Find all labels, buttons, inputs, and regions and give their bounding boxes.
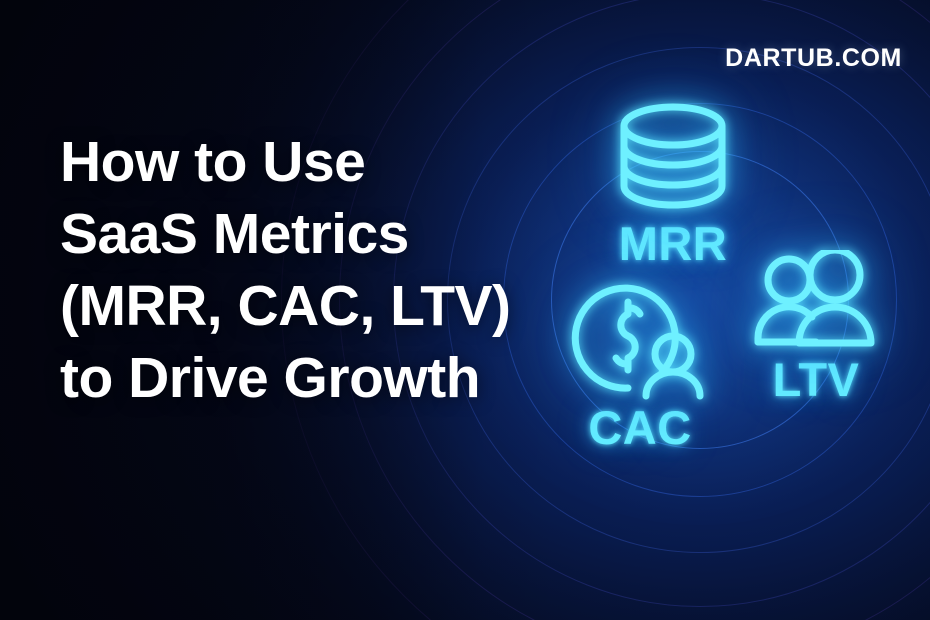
database-stack-icon <box>612 100 734 212</box>
metric-mrr: MRR <box>612 100 734 267</box>
brand-logo: DARTUB.COM <box>725 44 902 73</box>
headline-line-1: How to Use <box>60 126 511 198</box>
metric-ltv-label: LTV <box>773 356 860 403</box>
metric-ltv: LTV <box>752 250 880 403</box>
metric-cac: CAC <box>566 278 714 451</box>
headline-line-4: to Drive Growth <box>60 342 511 414</box>
two-people-icon <box>752 250 880 350</box>
headline-line-3: (MRR, CAC, LTV) <box>60 270 511 342</box>
banner-image: DARTUB.COM How to Use SaaS Metrics (MRR,… <box>0 0 930 620</box>
dollar-circle-person-icon <box>566 278 714 400</box>
page-title: How to Use SaaS Metrics (MRR, CAC, LTV) … <box>60 126 511 414</box>
metric-cac-label: CAC <box>588 404 691 451</box>
headline-line-2: SaaS Metrics <box>60 198 511 270</box>
metric-mrr-label: MRR <box>619 220 728 267</box>
